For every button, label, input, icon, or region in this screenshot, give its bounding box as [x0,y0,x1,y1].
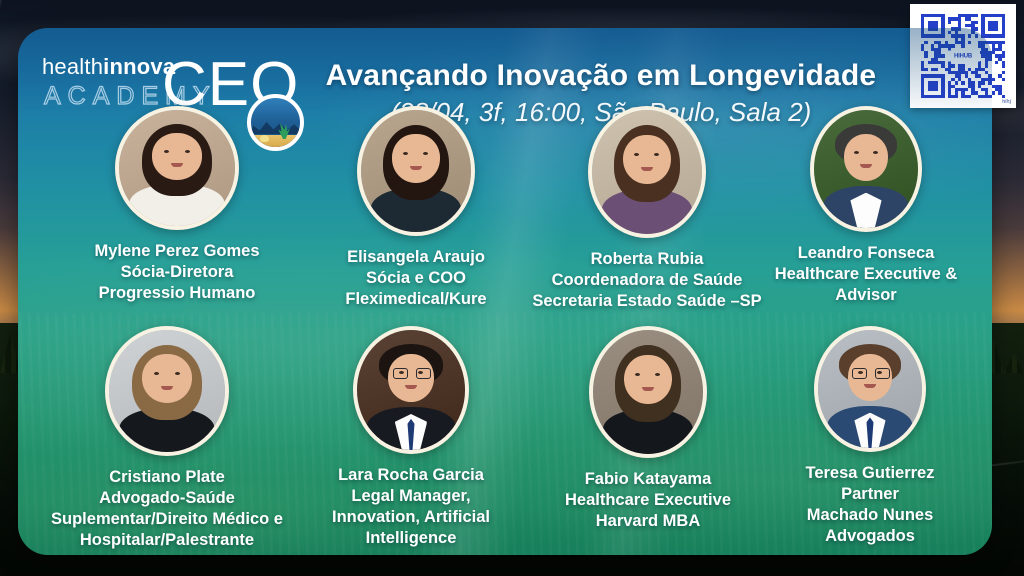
speaker-caption: Elisangela Araujo Sócia e COO Fleximedic… [286,247,546,310]
speaker-card-7[interactable]: Fabio Katayama Healthcare Executive Harv… [518,326,778,532]
qr-corner-tag: hihj [1002,99,1011,105]
speaker-card-2[interactable]: Elisangela Araujo Sócia e COO Fleximedic… [286,106,546,310]
avatar [357,106,475,236]
speaker-caption: Fabio Katayama Healthcare Executive Harv… [518,469,778,532]
speaker-caption: Teresa Gutierrez Partner Machado Nunes A… [760,463,980,547]
speaker-caption: Roberta Rubia Coordenadora de Saúde Secr… [508,249,786,312]
avatar [115,106,239,230]
speaker-card-8[interactable]: Teresa Gutierrez Partner Machado Nunes A… [760,326,980,547]
speaker-card-1[interactable]: Mylene Perez Gomes Sócia-Diretora Progre… [36,106,318,304]
event-title: Avançando Inovação em Longevidade [284,58,918,94]
speaker-caption: Lara Rocha Garcia Legal Manager, Innovat… [286,465,536,549]
poster-stage: healthinnova ACADEMY CEO Avançando Inova… [0,0,1024,576]
speaker-caption: Mylene Perez Gomes Sócia-Diretora Progre… [36,241,318,304]
speaker-card-4[interactable]: Leandro Fonseca Healthcare Executive & A… [756,106,976,306]
event-card: healthinnova ACADEMY CEO Avançando Inova… [18,28,992,555]
avatar [810,106,922,232]
avatar [353,326,469,454]
speaker-card-3[interactable]: Roberta Rubia Coordenadora de Saúde Secr… [508,106,786,312]
speaker-caption: Leandro Fonseca Healthcare Executive & A… [756,243,976,306]
avatar [588,106,706,238]
avatar [589,326,707,458]
speaker-card-6[interactable]: Lara Rocha Garcia Legal Manager, Innovat… [286,326,536,549]
brand-wordmark: healthinnova [42,54,175,80]
speaker-caption: Cristiano Plate Advogado-Saúde Suplement… [26,467,308,551]
brand-word-health: health [42,54,103,79]
avatar [814,326,926,452]
avatar [105,326,229,456]
speaker-card-5[interactable]: Cristiano Plate Advogado-Saúde Suplement… [26,326,308,551]
